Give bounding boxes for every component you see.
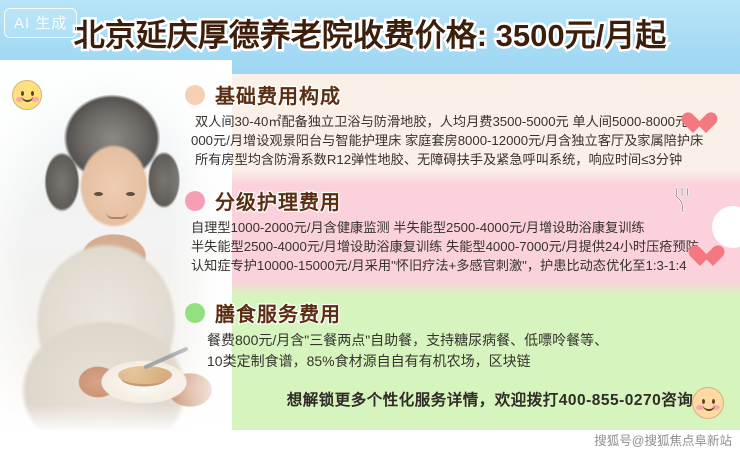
section-care-header: 分级护理费用	[185, 186, 740, 215]
section-care-line-2: 半失能型2500-4000元/月增设助浴康复训练 失能型4000-7000元/月…	[191, 237, 740, 256]
heart-icon	[700, 246, 726, 270]
section-basic-line-1: 双人间30-40㎡配备独立卫浴与防滑地胶，人均月费3500-5000元 单人间5…	[191, 112, 740, 131]
page-title: 北京延庆厚德养老院收费价格: 3500元/月起	[0, 16, 740, 56]
section-basic-line-2: 000元/月增设观景阳台与智能护理床 家庭套房8000-12000元/月含独立客…	[191, 131, 740, 150]
section-care-line-3: 认知症专护10000-15000元/月采用"怀旧疗法+多感官刺激"，护患比动态优…	[191, 256, 740, 275]
photo-eye-right	[126, 192, 135, 196]
bullet-dot-icon	[185, 191, 205, 211]
smiley-icon	[12, 80, 42, 110]
ai-generated-badge: AI 生成	[4, 8, 77, 38]
section-care-body: 自理型1000-2000元/月含健康监测 半失能型2500-4000元/月增设助…	[185, 218, 740, 275]
bullet-dot-icon	[185, 303, 205, 323]
section-meal-title: 膳食服务费用	[215, 298, 341, 327]
section-meal-line-1: 餐费800元/月含"三餐两点"自助餐，支持糖尿病餐、低嘌呤餐等、	[207, 330, 740, 351]
bullet-dot-icon	[185, 85, 205, 105]
section-graded-care-fees: 分级护理费用 自理型1000-2000元/月含健康监测 半失能型2500-400…	[185, 186, 740, 275]
section-care-title: 分级护理费用	[215, 186, 341, 215]
section-basic-line-3: 所有房型均含防滑系数R12弹性地胶、无障碍扶手及紧急呼叫系统，响应时间≤3分钟	[191, 150, 740, 169]
section-meal-header: 膳食服务费用	[185, 298, 740, 327]
poster-root: AI 生成 北京延庆厚德养老院收费价格: 3500元/月起 基础费用构成 双人间…	[0, 0, 740, 453]
fork-icon	[672, 186, 694, 214]
section-basic-header: 基础费用构成	[185, 80, 740, 109]
footer-watermark: 搜狐号@搜狐焦点阜新站	[594, 430, 732, 449]
section-care-line-1: 自理型1000-2000元/月含健康监测 半失能型2500-4000元/月增设助…	[191, 218, 740, 237]
section-meal-body: 餐费800元/月含"三餐两点"自助餐，支持糖尿病餐、低嘌呤餐等、 10类定制食谱…	[185, 330, 740, 372]
section-basic-title: 基础费用构成	[215, 80, 341, 109]
section-meal-line-2: 10类定制食谱，85%食材源自自有有机农场，区块链	[207, 351, 740, 372]
section-basic-fees: 基础费用构成 双人间30-40㎡配备独立卫浴与防滑地胶，人均月费3500-500…	[185, 80, 740, 169]
photo-fade-bottom	[0, 404, 232, 430]
photo-eye-left	[94, 192, 103, 196]
section-meal-service-fees: 膳食服务费用 餐费800元/月含"三餐两点"自助餐，支持糖尿病餐、低嘌呤餐等、 …	[185, 298, 740, 372]
photo-mouth	[106, 212, 128, 219]
fork-icon-svg	[672, 186, 694, 214]
section-basic-body: 双人间30-40㎡配备独立卫浴与防滑地胶，人均月费3500-5000元 单人间5…	[185, 112, 740, 169]
heart-icon	[693, 113, 719, 137]
cta-phone-text: 想解锁更多个性化服务详情，欢迎拨打400-855-0270咨询	[240, 388, 740, 410]
